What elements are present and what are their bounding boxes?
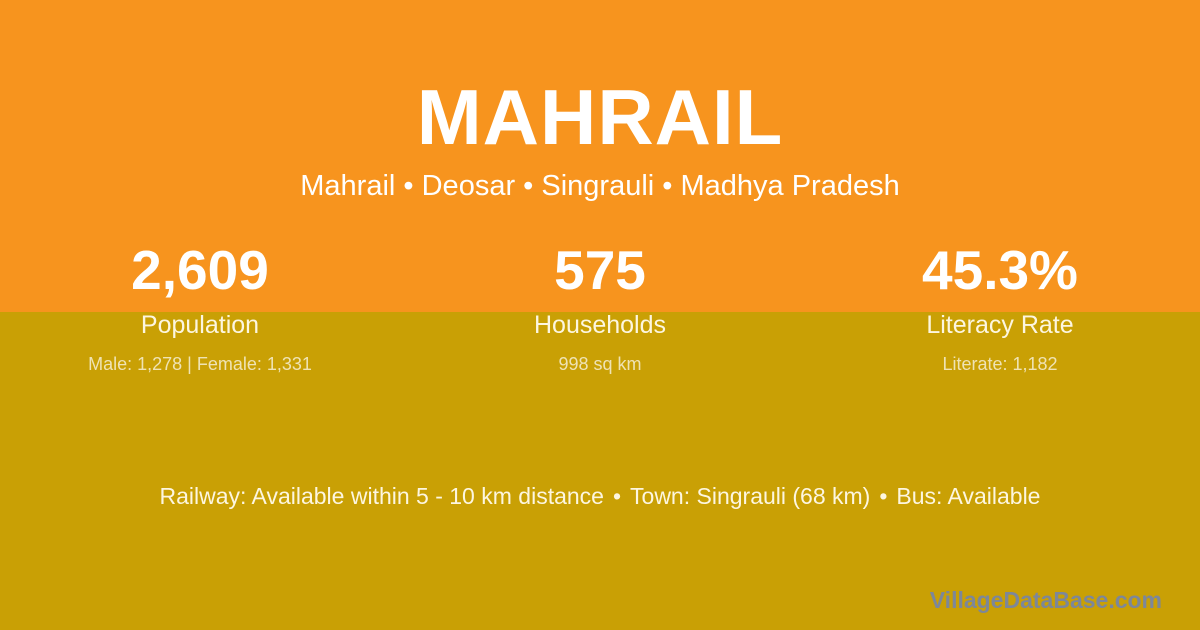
amenity-bus: Bus: Available [896, 485, 1040, 508]
site-brand: VillageDataBase.com [930, 589, 1162, 612]
amenity-separator: • [604, 485, 630, 508]
stats-row: 2,609 Population Male: 1,278 | Female: 1… [0, 243, 1200, 373]
amenity-separator: • [870, 485, 896, 508]
stat-value: 2,609 [0, 243, 400, 301]
amenity-town: Town: Singrauli (68 km) [630, 485, 870, 508]
breadcrumb: Mahrail • Deosar • Singrauli • Madhya Pr… [0, 156, 1200, 201]
page-title: MAHRAIL [0, 0, 1200, 156]
stat-households: 575 Households 998 sq km [400, 243, 800, 373]
stat-sublabel: Literate: 1,182 [800, 355, 1200, 373]
stat-sublabel: 998 sq km [400, 355, 800, 373]
stat-label: Literacy Rate [800, 313, 1200, 338]
stat-value: 45.3% [800, 243, 1200, 301]
amenity-railway: Railway: Available within 5 - 10 km dist… [160, 485, 604, 508]
stat-value: 575 [400, 243, 800, 301]
stat-population: 2,609 Population Male: 1,278 | Female: 1… [0, 243, 400, 373]
stat-sublabel: Male: 1,278 | Female: 1,331 [0, 355, 400, 373]
stat-label: Households [400, 313, 800, 338]
stat-label: Population [0, 313, 400, 338]
village-info-card: MAHRAIL Mahrail • Deosar • Singrauli • M… [0, 0, 1200, 630]
amenities-line: Railway: Available within 5 - 10 km dist… [0, 485, 1200, 508]
card-header: MAHRAIL Mahrail • Deosar • Singrauli • M… [0, 0, 1200, 201]
stat-literacy-rate: 45.3% Literacy Rate Literate: 1,182 [800, 243, 1200, 373]
